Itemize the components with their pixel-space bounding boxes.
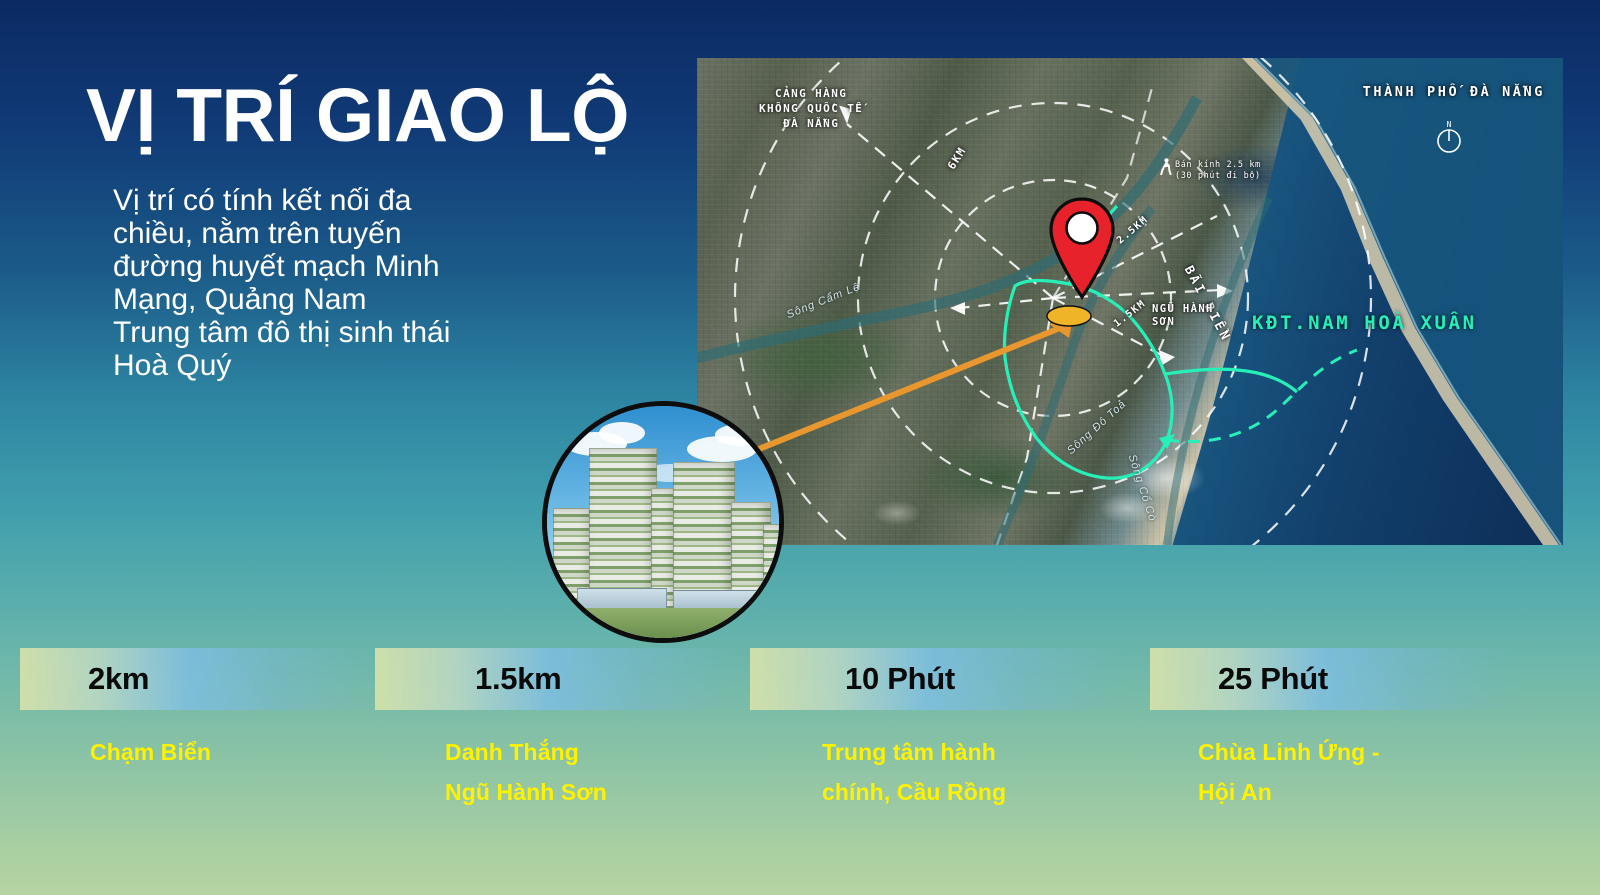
stat-card[interactable]: 25 Phút Chùa Linh Ứng - Hội An bbox=[1150, 648, 1520, 812]
stat-card[interactable]: 10 Phút Trung tâm hành chính, Cầu Rồng bbox=[750, 648, 1130, 812]
intro-line-2: chiều, nằm trên tuyến bbox=[113, 217, 583, 250]
stat-label-line: Ngũ Hành Sơn bbox=[445, 772, 745, 812]
photo-ground bbox=[547, 608, 779, 638]
stat-value: 2km bbox=[88, 661, 149, 697]
photo-cloud bbox=[599, 422, 645, 444]
project-photo[interactable] bbox=[542, 401, 784, 643]
stat-label: Danh Thắng Ngũ Hành Sơn bbox=[445, 732, 745, 812]
compass-icon: N bbox=[1435, 118, 1463, 154]
pedestrian-icon bbox=[1160, 158, 1173, 175]
stat-label: Chạm Biển bbox=[90, 732, 380, 772]
stat-value: 25 Phút bbox=[1218, 661, 1328, 697]
intro-line-4: Mạng, Quảng Nam bbox=[113, 283, 583, 316]
stats-row: 2km Chạm Biển 1.5km Danh Thắng Ngũ Hành … bbox=[0, 648, 1600, 828]
stat-card[interactable]: 2km Chạm Biển bbox=[20, 648, 380, 772]
intro-line-5: Trung tâm đô thị sinh thái bbox=[113, 316, 583, 349]
page-title: VỊ TRÍ GIAO LỘ bbox=[86, 78, 629, 153]
stat-label-line: Chạm Biển bbox=[90, 732, 380, 772]
photo-cloud bbox=[715, 424, 765, 446]
intro-line-6: Hoà Quý bbox=[113, 349, 583, 382]
stat-card-bar: 1.5km bbox=[375, 648, 745, 710]
satellite-map[interactable]: THÀNH PHỐ ĐÀ NẴNG CẢNG HÀNG KHÔNG QUỐC T… bbox=[697, 58, 1563, 545]
intro-line-3: đường huyết mạch Minh bbox=[113, 250, 583, 283]
stat-label-line: Trung tâm hành bbox=[822, 732, 1130, 772]
intro-paragraph: Vị trí có tính kết nối đa chiều, nằm trê… bbox=[113, 184, 583, 382]
stat-label-line: Hội An bbox=[1198, 772, 1520, 812]
intro-line-1: Vị trí có tính kết nối đa bbox=[113, 184, 583, 217]
stat-value: 1.5km bbox=[475, 661, 561, 697]
stat-value: 10 Phút bbox=[845, 661, 955, 697]
stat-label: Chùa Linh Ứng - Hội An bbox=[1198, 732, 1520, 812]
map-pin-icon[interactable] bbox=[1046, 196, 1118, 300]
stat-card[interactable]: 1.5km Danh Thắng Ngũ Hành Sơn bbox=[375, 648, 745, 812]
stat-label-line: chính, Cầu Rồng bbox=[822, 772, 1130, 812]
svg-text:N: N bbox=[1447, 120, 1452, 129]
stat-card-bar: 2km bbox=[20, 648, 380, 710]
photo-building bbox=[763, 524, 784, 620]
stat-card-bar: 10 Phút bbox=[750, 648, 1130, 710]
stat-label: Trung tâm hành chính, Cầu Rồng bbox=[822, 732, 1130, 812]
map-overlay-graphics bbox=[697, 58, 1563, 545]
stat-label-line: Danh Thắng bbox=[445, 732, 745, 772]
stat-card-bar: 25 Phút bbox=[1150, 648, 1520, 710]
stat-label-line: Chùa Linh Ứng - bbox=[1198, 732, 1520, 772]
